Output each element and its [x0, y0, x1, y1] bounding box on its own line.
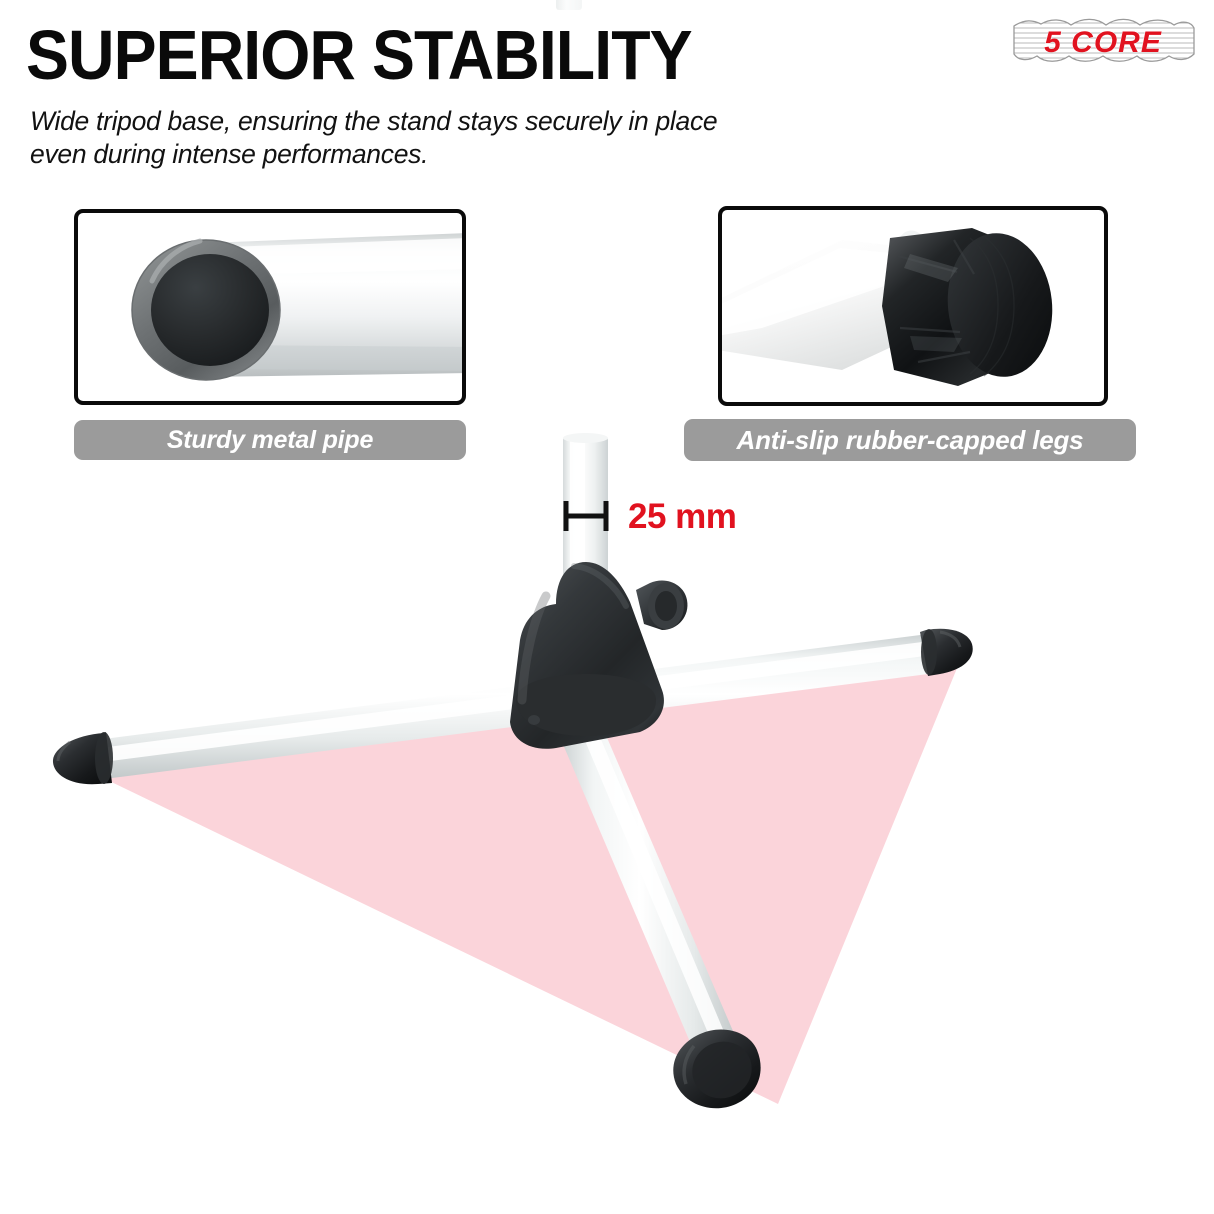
hub-tightening-knob: [636, 580, 687, 630]
tripod-base-illustration: [0, 0, 1214, 1214]
infographic-page: SUPERIOR STABILITY Wide tripod base, ens…: [0, 0, 1214, 1214]
dimension-label-25mm: 25 mm: [628, 497, 736, 537]
